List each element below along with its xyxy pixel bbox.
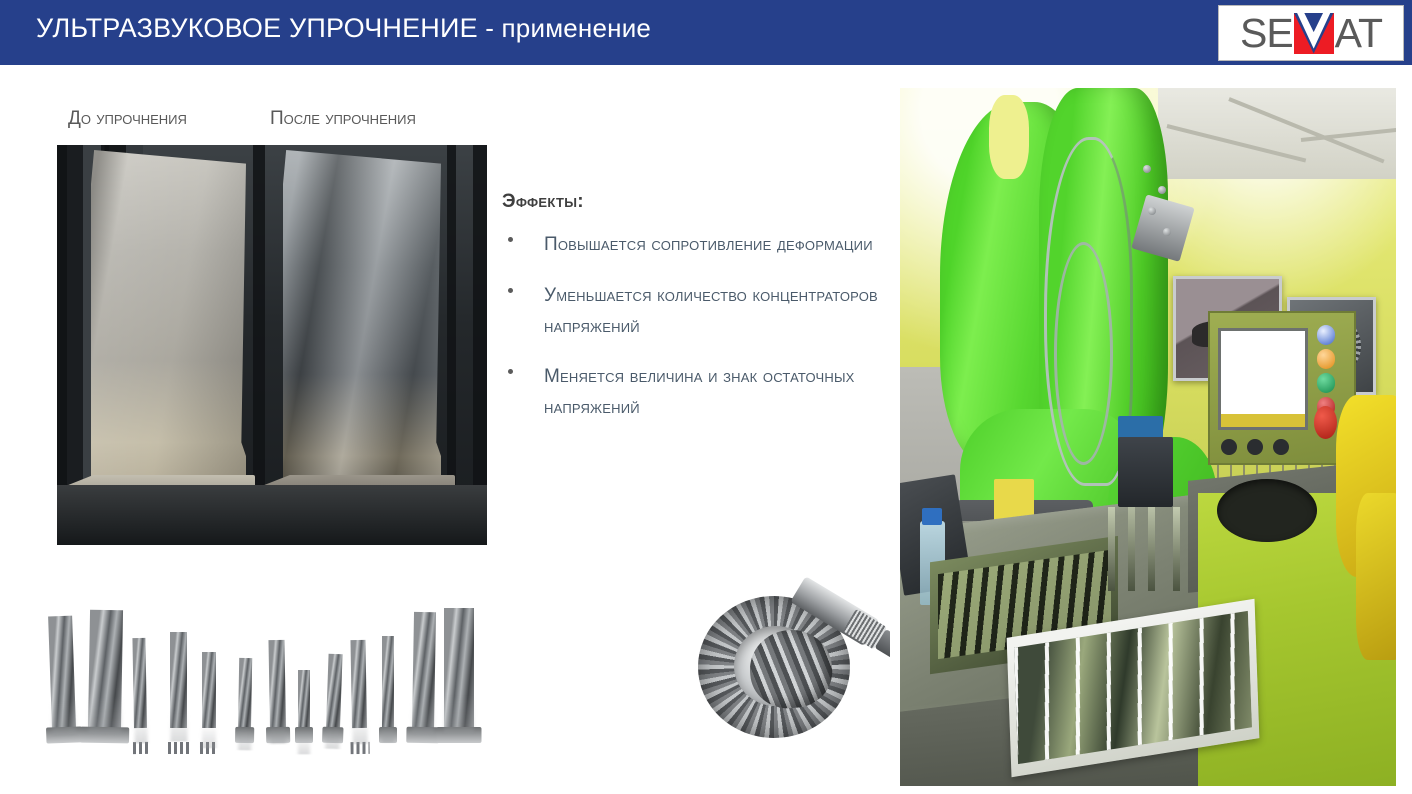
blade-item bbox=[444, 608, 474, 728]
fixture-comb bbox=[1148, 500, 1155, 591]
hmi-screen bbox=[1218, 328, 1308, 430]
button-start-green[interactable] bbox=[1317, 373, 1336, 392]
ceiling-beam bbox=[1167, 124, 1307, 162]
blade-item bbox=[48, 616, 76, 729]
page-title-main: УЛЬТРАЗВУКОВОЕ УПРОЧНЕНИЕ bbox=[36, 13, 478, 43]
hmi-status-bar bbox=[1221, 414, 1305, 427]
slide-header: УЛЬТРАЗВУКОВОЕ УПРОЧНЕНИЕ - применение S… bbox=[0, 0, 1412, 65]
list-item: Меняется величина и знак остаточных напр… bbox=[502, 362, 892, 424]
fixture-comb bbox=[1108, 507, 1115, 591]
bottle-cap bbox=[922, 508, 942, 525]
bullet-dot-icon bbox=[508, 369, 513, 374]
blade-item bbox=[298, 670, 310, 728]
yellow-robot-base bbox=[1356, 493, 1396, 661]
fixture-comb bbox=[1173, 507, 1180, 591]
blade-item bbox=[268, 640, 286, 728]
caption-after-treatment: После упрочнения bbox=[270, 108, 416, 130]
blade-item bbox=[132, 638, 147, 728]
fixture-comb bbox=[1128, 493, 1135, 591]
list-item: Уменьшается количество концентраторов на… bbox=[502, 281, 892, 343]
page-title: УЛЬТРАЗВУКОВОЕ УПРОЧНЕНИЕ - применение bbox=[36, 13, 651, 44]
blade-item bbox=[412, 612, 436, 728]
photo-foreground-shadow bbox=[57, 485, 487, 545]
polished-plate-cells bbox=[1015, 612, 1252, 765]
blade-item bbox=[170, 632, 187, 728]
caption-before-treatment: До упрочнения bbox=[68, 108, 187, 130]
semat-logo: SE AT bbox=[1218, 5, 1404, 61]
list-item: Повышается сопротивление деформации bbox=[502, 230, 892, 261]
blade-item bbox=[202, 652, 216, 728]
blade-after-treatment bbox=[283, 150, 441, 490]
page-title-separator: - bbox=[478, 13, 502, 43]
semat-logo-inner: SE AT bbox=[1219, 6, 1403, 60]
bolt-icon bbox=[1148, 207, 1156, 215]
blade-item bbox=[350, 640, 367, 728]
robot-cell-photo bbox=[900, 88, 1396, 786]
bolt-icon bbox=[1158, 186, 1166, 194]
effects-heading: Эффекты: bbox=[502, 191, 584, 213]
blade-item bbox=[326, 654, 343, 728]
emergency-stop-button[interactable] bbox=[1314, 406, 1337, 439]
control-panel bbox=[1208, 311, 1357, 465]
blade-before-treatment bbox=[91, 150, 246, 490]
blades-lineup-photo bbox=[30, 575, 490, 790]
bullet-dot-icon bbox=[508, 288, 513, 293]
ceiling-beam bbox=[1229, 97, 1385, 163]
list-item-label: Меняется величина и знак остаточных напр… bbox=[544, 362, 892, 424]
logo-m-icon bbox=[1294, 13, 1334, 54]
page-title-subject: применение bbox=[502, 13, 652, 43]
blade-item bbox=[382, 636, 394, 728]
ultrasonic-tool-head bbox=[1118, 437, 1173, 507]
bullet-dot-icon bbox=[508, 237, 513, 242]
blade-item bbox=[238, 658, 252, 728]
machine-opening bbox=[1217, 479, 1316, 542]
logo-text-se: SE bbox=[1240, 13, 1293, 54]
bevel-gear-photo bbox=[690, 558, 890, 743]
effects-bullet-list: Повышается сопротивление деформации Умен… bbox=[502, 230, 892, 444]
blade-item bbox=[88, 610, 123, 729]
panel-knob[interactable] bbox=[1273, 439, 1289, 455]
hall-ceiling bbox=[1158, 88, 1396, 179]
indicator-lamp-orange[interactable] bbox=[1317, 349, 1336, 368]
bolt-icon bbox=[1163, 228, 1171, 236]
cable-bundle-inner bbox=[1054, 242, 1114, 465]
panel-knob[interactable] bbox=[1221, 439, 1237, 455]
bolt-icon bbox=[1143, 165, 1151, 173]
list-item-label: Повышается сопротивление деформации bbox=[544, 230, 892, 261]
panel-knob[interactable] bbox=[1247, 439, 1263, 455]
list-item-label: Уменьшается количество концентраторов на… bbox=[544, 281, 892, 343]
robot-arm-gap bbox=[989, 95, 1029, 179]
logo-text-at: AT bbox=[1335, 13, 1382, 54]
indicator-lamp-blue[interactable] bbox=[1317, 325, 1336, 344]
blades-comparison-photo bbox=[57, 145, 487, 545]
